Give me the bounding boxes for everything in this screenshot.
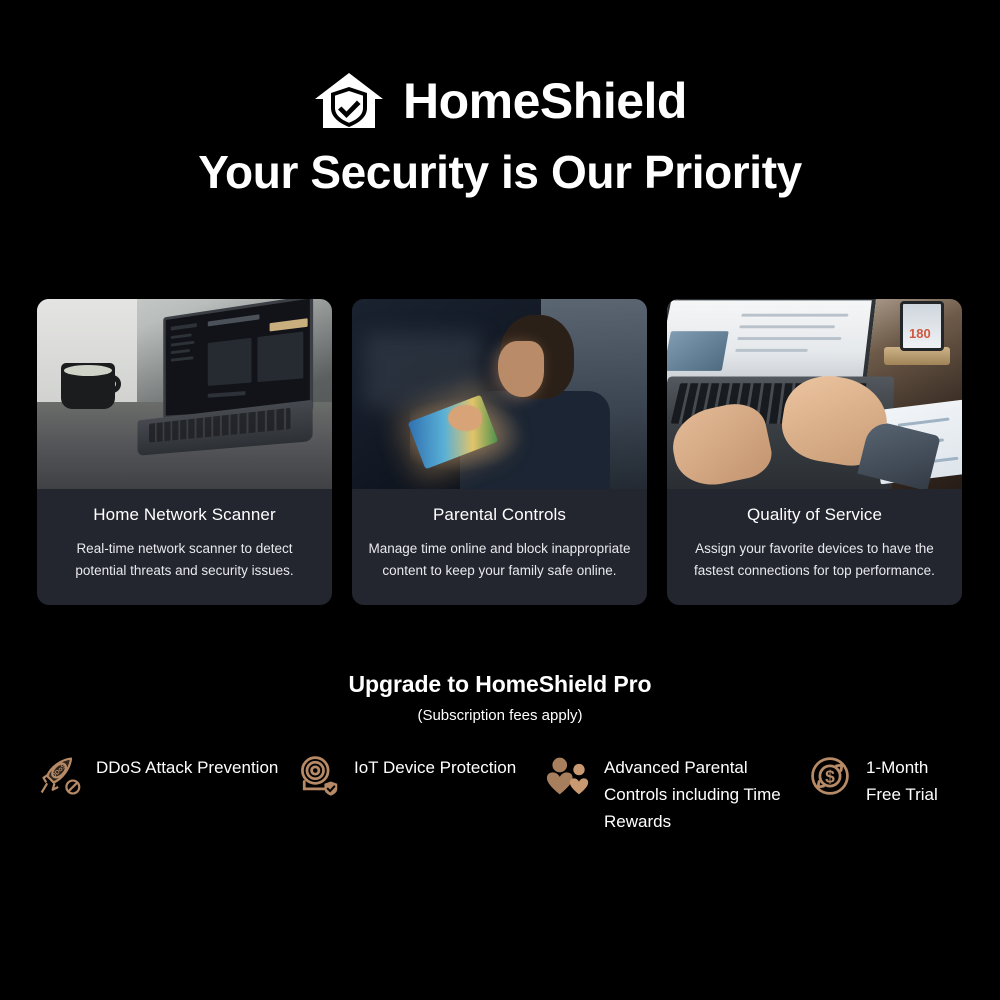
pro-feature-list: DDoS DDoS Attack Prevention xyxy=(38,752,968,836)
card-description: Assign your favorite devices to have the… xyxy=(667,538,962,583)
camera-shield-check-icon xyxy=(296,754,340,798)
brand-header: HomeShield xyxy=(0,72,1000,130)
pro-feature-item: DDoS DDoS Attack Prevention xyxy=(38,752,296,798)
card-description: Real-time network scanner to detect pote… xyxy=(37,538,332,583)
feature-card[interactable]: 180 Quality of Service Assign your favor… xyxy=(667,299,962,605)
pro-feature-label: DDoS Attack Prevention xyxy=(96,752,278,781)
dollar-refresh-circle-icon: $ xyxy=(808,754,852,798)
card-description: Manage time online and block inappropria… xyxy=(352,538,647,583)
feature-card-list: Home Network Scanner Real-time network s… xyxy=(37,299,963,605)
feature-card[interactable]: Parental Controls Manage time online and… xyxy=(352,299,647,605)
homeshield-promo-page: HomeShield Your Security is Our Priority xyxy=(0,0,1000,1000)
card-title: Parental Controls xyxy=(352,505,647,525)
pro-feature-label: IoT Device Protection xyxy=(354,752,516,781)
feature-card[interactable]: Home Network Scanner Real-time network s… xyxy=(37,299,332,605)
pro-feature-label: Advanced Parental Controls including Tim… xyxy=(604,752,808,836)
pro-feature-item: IoT Device Protection xyxy=(296,752,546,798)
child-with-tablet-photo xyxy=(352,299,647,489)
card-title: Quality of Service xyxy=(667,505,962,525)
upgrade-subtitle: (Subscription fees apply) xyxy=(0,707,1000,724)
page-tagline: Your Security is Our Priority xyxy=(0,146,1000,199)
rocket-ddos-blocked-icon: DDoS xyxy=(38,754,82,798)
brand-name: HomeShield xyxy=(403,76,687,126)
family-hearts-icon xyxy=(546,754,590,798)
pro-feature-label: 1-Month Free Trial xyxy=(866,752,968,808)
svg-text:$: $ xyxy=(825,766,835,786)
laptop-on-desk-photo xyxy=(37,299,332,489)
pro-feature-item: Advanced Parental Controls including Tim… xyxy=(546,752,808,836)
upgrade-title: Upgrade to HomeShield Pro xyxy=(0,671,1000,698)
hands-typing-laptop-photo: 180 xyxy=(667,299,962,489)
pro-feature-item: $ 1-Month Free Trial xyxy=(808,752,968,808)
house-shield-check-icon xyxy=(313,72,385,130)
card-title: Home Network Scanner xyxy=(37,505,332,525)
